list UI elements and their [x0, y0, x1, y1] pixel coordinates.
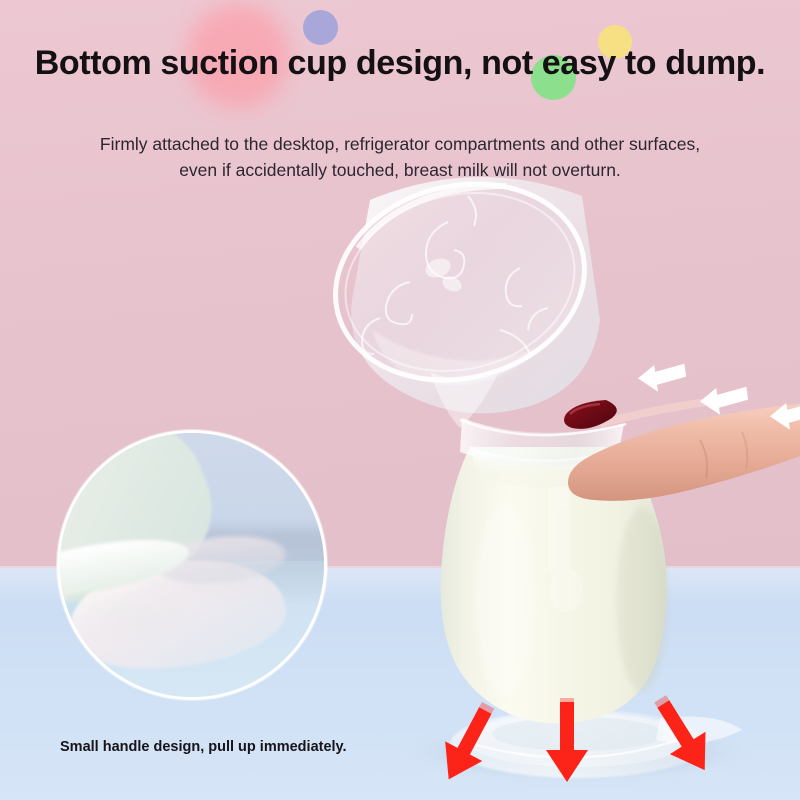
page-subhead: Firmly attached to the desktop, refriger…: [40, 131, 760, 183]
subhead-line-1: Firmly attached to the desktop, refriger…: [40, 131, 760, 157]
suction-arrow-down-center-icon: [538, 698, 596, 788]
subhead-line-2: even if accidentally touched, breast mil…: [40, 157, 760, 183]
page-headline: Bottom suction cup design, not easy to d…: [0, 44, 800, 83]
motion-arrow-left-icon-2: [698, 385, 750, 415]
funnel-flange: [315, 158, 606, 428]
suction-base-closeup-inset: [57, 430, 327, 700]
motion-arrow-left-icon-1: [636, 362, 688, 392]
motion-arrow-left-icon-3: [768, 400, 800, 430]
product-marketing-image: Bottom suction cup design, not easy to d…: [0, 0, 800, 800]
inset-caption: Small handle design, pull up immediately…: [60, 739, 347, 755]
suction-arrow-down-right-icon: [648, 692, 720, 782]
suction-arrow-down-left-icon: [432, 700, 502, 790]
